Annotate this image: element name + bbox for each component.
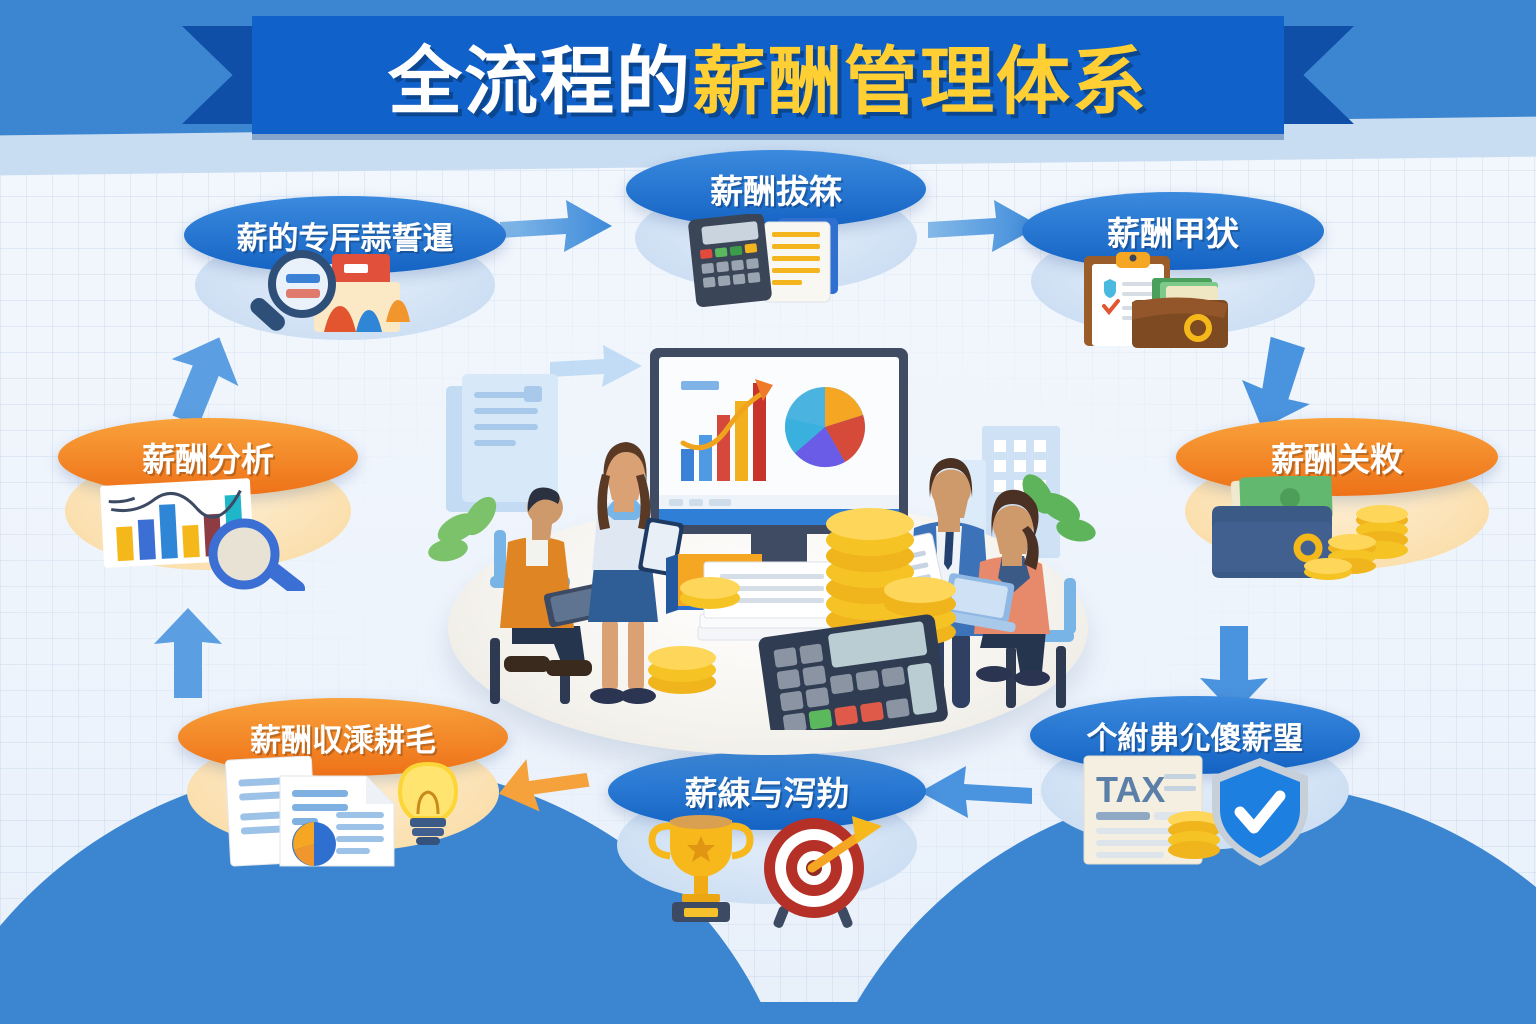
- trophy-target-icon: [646, 810, 886, 935]
- node-compensation-analysis[interactable]: 薪酬分析: [58, 418, 358, 574]
- node-performance-incentive[interactable]: 薪綀与泻劷: [608, 752, 926, 912]
- node-compensation-accounting[interactable]: 薪酬拔箖: [626, 150, 926, 300]
- page-title-white-part: 全流程的: [388, 40, 692, 123]
- background-bottom-strip: [0, 1002, 1536, 1024]
- magnifier-over-cards-icon: [240, 248, 430, 353]
- arrow-strategy-to-analysis: [150, 606, 226, 702]
- node-label: 薪綀与泻劷: [685, 767, 850, 815]
- node-compensation-payout[interactable]: 薪酬关敉: [1176, 418, 1498, 574]
- center-scene: [428, 330, 1108, 730]
- arrow-survey-to-accounting: [496, 196, 616, 258]
- ribbon-panel: 全流程的薪酬管理体系: [252, 16, 1284, 134]
- node-label: 薪酬拔箖: [710, 165, 842, 213]
- arrow-tax-to-performance: [920, 762, 1036, 824]
- arrow-analysis-to-survey: [160, 332, 246, 428]
- page-title: 全流程的薪酬管理体系: [388, 22, 1148, 129]
- calculator-documents-icon: [682, 214, 872, 314]
- page-title-gold-part: 薪酬管理体系: [692, 40, 1148, 123]
- node-label: 个紨丳尣傻薪琞: [1087, 713, 1304, 758]
- bar-chart-magnifier-icon: [92, 476, 332, 596]
- node-label: 薪酬甲犾: [1107, 207, 1239, 255]
- title-banner: 全流程的薪酬管理体系: [0, 8, 1536, 136]
- wallet-coins-icon: [1206, 476, 1446, 591]
- tax-shield-icon: TAX: [1070, 754, 1320, 879]
- infographic-canvas: 全流程的薪酬管理体系 薪的专厈蒜誓暹: [0, 0, 1536, 1024]
- arrow-performance-to-strategy: [496, 740, 592, 820]
- documents-lightbulb-icon: [216, 756, 466, 881]
- node-compensation-survey[interactable]: 薪的专厈蒜誓暹: [184, 196, 506, 346]
- tax-heading: TAX: [1096, 769, 1165, 810]
- node-label: 薪酬关敉: [1271, 433, 1403, 481]
- node-label: 薪酬分析: [142, 433, 274, 481]
- node-compensation-review[interactable]: 薪酬甲犾: [1022, 192, 1324, 342]
- node-label: 薪酬収溗耕毛: [250, 715, 436, 760]
